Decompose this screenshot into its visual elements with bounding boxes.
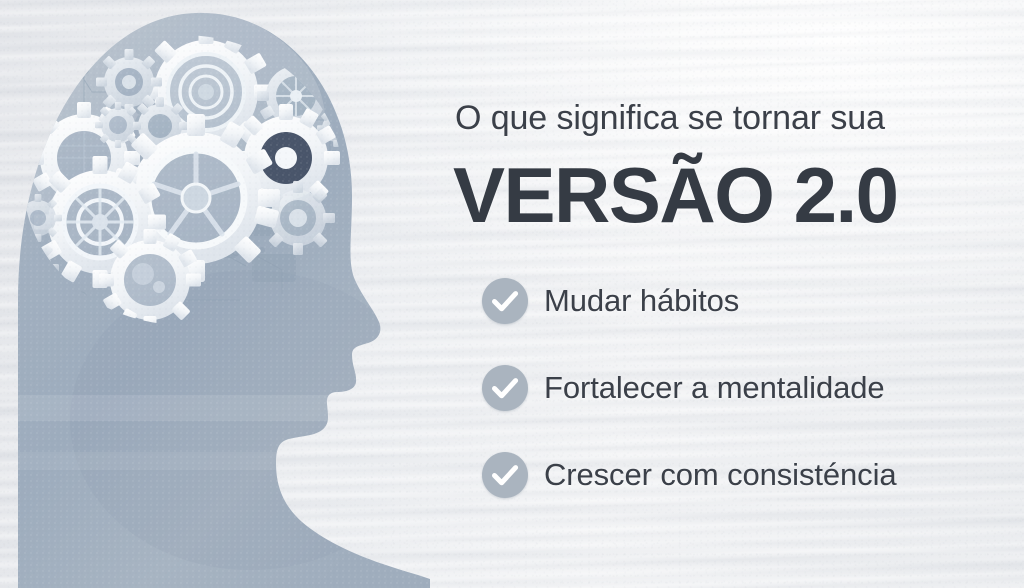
text-content-column: O que significa se tornar sua VERSÃO 2.0… (455, 0, 975, 588)
eyebrow-text: O que significa se tornar sua (455, 99, 885, 138)
list-item: Mudar hábitos (482, 278, 962, 324)
check-circle-icon (482, 452, 528, 498)
list-item-label: Fortalecer a mentalidade (544, 370, 885, 406)
check-circle-icon (482, 365, 528, 411)
list-item: Crescer com consisténcia (482, 452, 962, 498)
list-item-label: Crescer com consisténcia (544, 457, 897, 493)
list-item: Fortalecer a mentalidade (482, 365, 962, 411)
list-item-label: Mudar hábitos (544, 283, 739, 319)
benefits-list: Mudar hábitos Fortalecer a mentalidade C… (482, 278, 962, 498)
head-silhouette-with-gears (0, 0, 430, 588)
check-circle-icon (482, 278, 528, 324)
slide-canvas: O que significa se tornar sua VERSÃO 2.0… (0, 0, 1024, 588)
page-title: VERSÃO 2.0 (453, 156, 898, 234)
